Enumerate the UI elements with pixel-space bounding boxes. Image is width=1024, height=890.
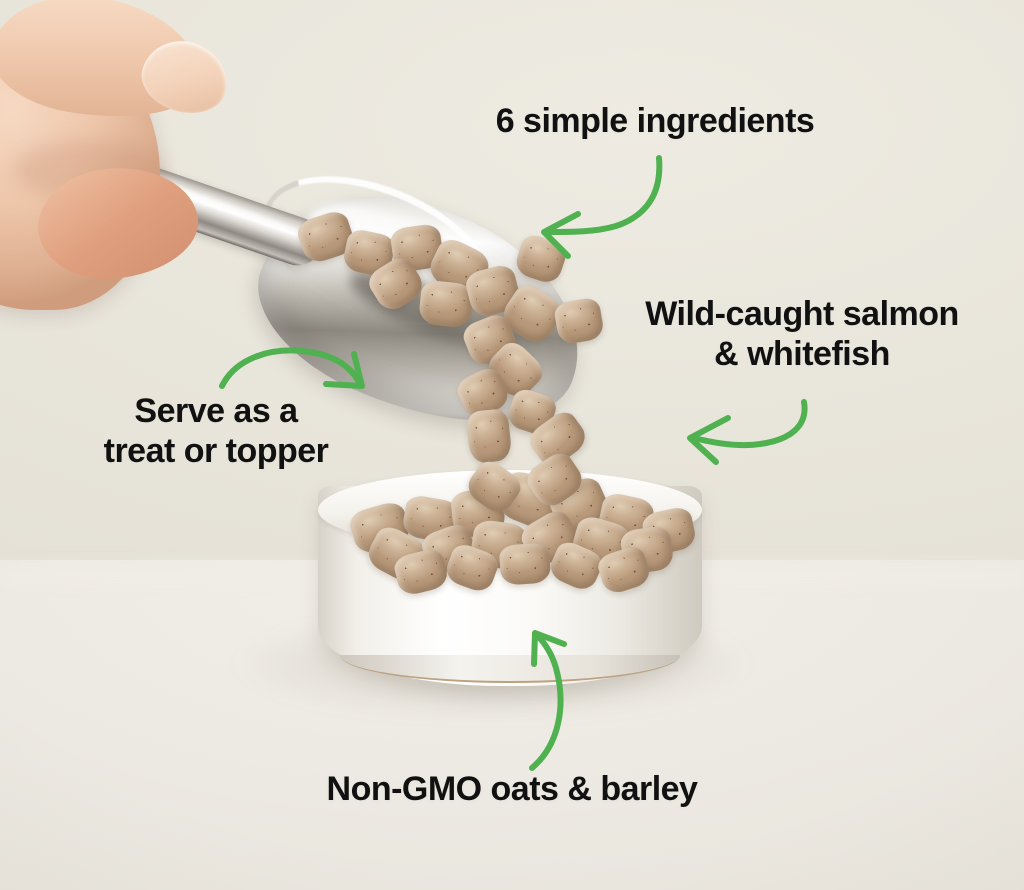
hand [0, 0, 240, 330]
arrow-oats [494, 622, 604, 774]
label-serve-as-treat-or-topper: Serve as a treat or topper [48, 392, 384, 472]
label-non-gmo-oats-barley: Non-GMO oats & barley [272, 770, 752, 810]
arrow-salmon [672, 382, 842, 482]
label-wild-caught-salmon-whitefish: Wild-caught salmon & whitefish [600, 295, 1004, 375]
label-six-simple-ingredients: 6 simple ingredients [455, 102, 855, 142]
product-infographic: 6 simple ingredients Wild-caught salmon … [0, 0, 1024, 890]
arrow-ingredients [520, 152, 710, 272]
